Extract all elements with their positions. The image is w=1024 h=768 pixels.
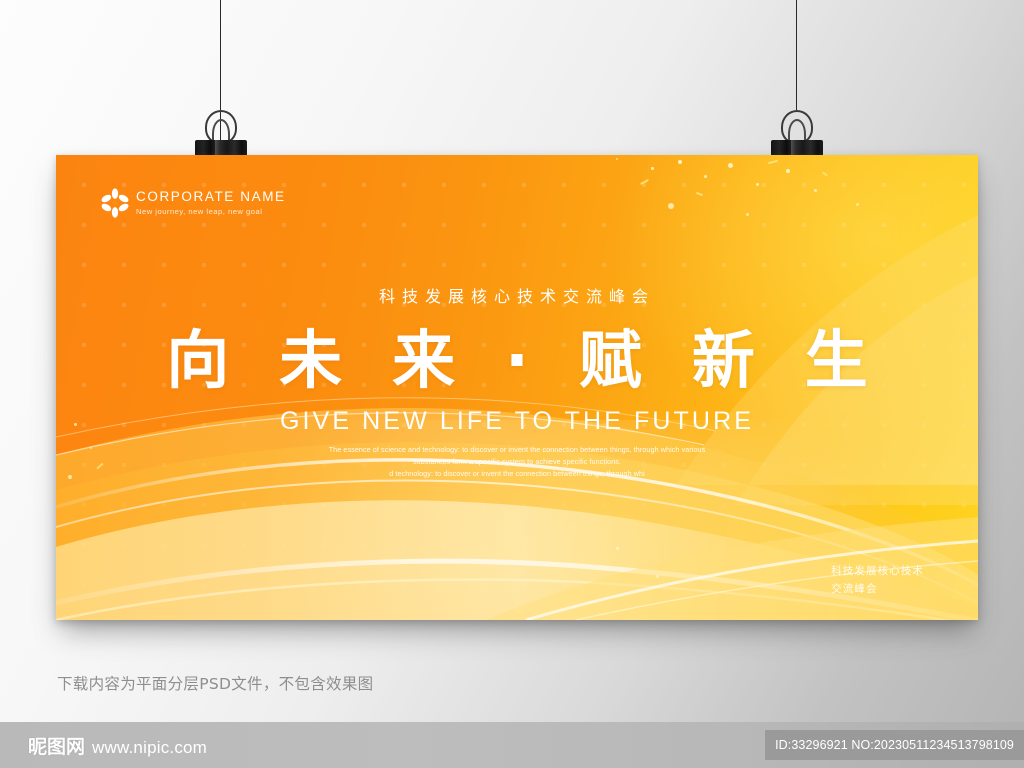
site-url: www.nipic.com	[92, 738, 207, 758]
sparkle-particle	[746, 213, 749, 216]
poster-corner-mark: 科技发展核心技术 交流峰会	[831, 563, 924, 598]
watermark-footer-bar: 昵图网 www.nipic.com ID:33296921 NO:2023051…	[0, 722, 1024, 768]
paragraph-line: substances form a specific system to ach…	[320, 456, 715, 468]
poster-headline: 向 未 来 · 赋 新 生	[56, 327, 978, 395]
corner-mark-line: 交流峰会	[831, 581, 924, 598]
sparkle-particle	[668, 203, 674, 209]
asset-id-badge: ID:33296921 NO:20230511234513798109	[765, 730, 1024, 760]
logo-text-block: CORPORATE NAME New journey, new leap, ne…	[136, 190, 286, 217]
sparkle-particle	[651, 167, 654, 170]
poster-artboard: CORPORATE NAME New journey, new leap, ne…	[56, 155, 978, 620]
sparkle-particle	[786, 169, 790, 173]
corporate-logo: CORPORATE NAME New journey, new leap, ne…	[100, 188, 286, 218]
sparkle-particle	[756, 183, 759, 186]
sparkle-particle	[856, 203, 859, 206]
event-kicker: 科技发展核心技术交流峰会	[56, 283, 978, 307]
logo-tagline: New journey, new leap, new goal	[136, 207, 286, 216]
hang-string-right	[796, 0, 797, 110]
poster-subline-english: GIVE NEW LIFE TO THE FUTURE	[56, 407, 978, 436]
site-watermark: 昵图网 www.nipic.com	[28, 732, 207, 759]
logo-company-name: CORPORATE NAME	[136, 190, 286, 205]
sparkle-particle	[616, 547, 619, 550]
sparkle-particle	[704, 175, 707, 178]
paragraph-line: d technology: to discover or invent the …	[320, 468, 715, 480]
sparkle-particle	[616, 158, 618, 160]
poster-paragraph: The essence of science and technology: t…	[320, 444, 715, 480]
sparkle-particle	[814, 189, 817, 192]
sparkle-particle	[728, 163, 733, 168]
flower-icon	[100, 188, 130, 218]
download-note-caption: 下载内容为平面分层PSD文件，不包含效果图	[57, 672, 373, 694]
sparkle-particle	[656, 575, 659, 578]
paragraph-line: The essence of science and technology: t…	[320, 444, 715, 456]
poster-copy-block: 科技发展核心技术交流峰会 向 未 来 · 赋 新 生 GIVE NEW LIFE…	[56, 283, 978, 480]
corner-mark-line: 科技发展核心技术	[831, 563, 924, 580]
sparkle-particle	[678, 160, 682, 164]
site-name-cn: 昵图网	[28, 732, 85, 759]
